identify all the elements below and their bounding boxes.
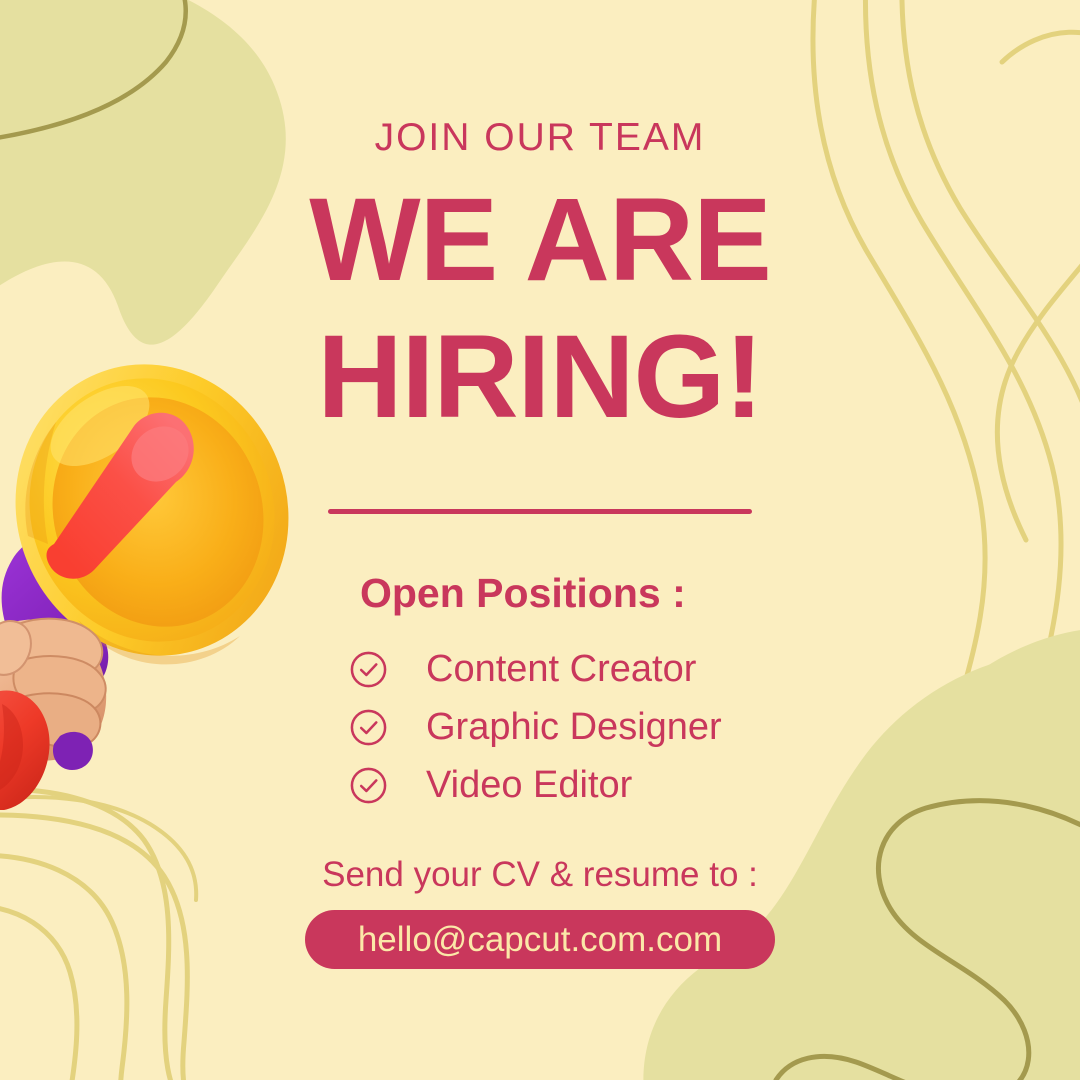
check-circle-icon [349, 650, 388, 689]
list-item: Graphic Designer [349, 698, 869, 756]
kicker-text: JOIN OUR TEAM [0, 116, 1080, 160]
cta-text: Send your CV & resume to : [0, 855, 1080, 895]
list-item: Video Editor [349, 756, 869, 814]
check-circle-icon [349, 708, 388, 747]
divider [328, 509, 752, 514]
position-label: Video Editor [426, 764, 632, 807]
email-button[interactable]: hello@capcut.com.com [305, 910, 775, 969]
headline-line-1: WE ARE [0, 181, 1080, 299]
check-circle-icon [349, 766, 388, 805]
hiring-poster: JOIN OUR TEAM WE ARE HIRING! Open Positi… [0, 0, 1080, 1080]
email-address: hello@capcut.com.com [358, 920, 722, 960]
position-label: Content Creator [426, 648, 696, 691]
open-positions-list: Content Creator Graphic Designer Video E… [349, 640, 869, 814]
list-item: Content Creator [349, 640, 869, 698]
headline-line-2: HIRING! [0, 318, 1080, 436]
position-label: Graphic Designer [426, 706, 722, 749]
open-positions-title: Open Positions : [360, 570, 686, 617]
